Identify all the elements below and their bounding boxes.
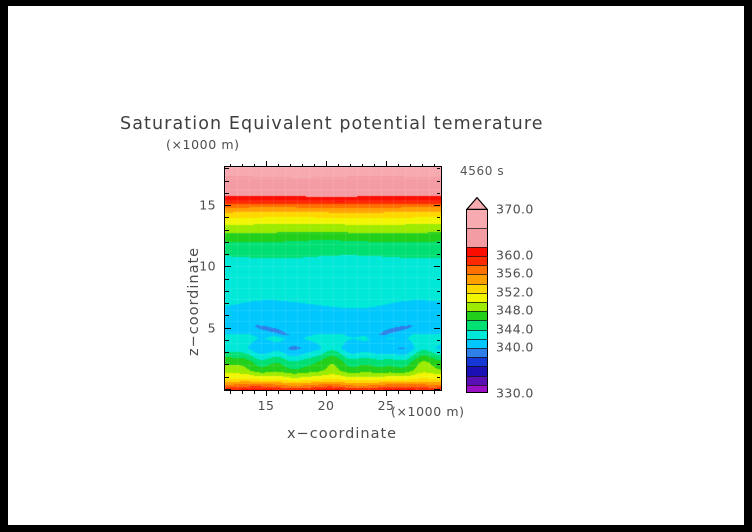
x-tick-top — [314, 164, 315, 168]
x-tick — [278, 390, 279, 394]
colorbar-segment — [467, 274, 487, 283]
y-tick — [225, 279, 229, 280]
y-tick-right — [437, 340, 441, 341]
colorbar-tick-label: 348.0 — [496, 303, 534, 318]
colorbar-segment — [467, 357, 487, 366]
colorbar — [466, 197, 488, 393]
x-tick-top — [254, 164, 255, 168]
y-tick-right — [437, 279, 441, 280]
x-tick — [230, 390, 231, 394]
colorbar-divider — [467, 311, 487, 312]
x-tick — [374, 390, 375, 394]
x-tick — [410, 390, 411, 394]
y-tick-right — [437, 303, 441, 304]
colorbar-divider — [467, 256, 487, 257]
x-tick-top — [338, 164, 339, 168]
x-tick-top — [278, 164, 279, 168]
colorbar-segment — [467, 376, 487, 385]
y-tick-right — [437, 193, 441, 194]
x-tick — [254, 390, 255, 394]
y-tick-right — [437, 217, 441, 218]
colorbar-divider — [467, 247, 487, 248]
y-tick-right — [437, 242, 441, 243]
x-tick-top — [266, 161, 267, 167]
y-tick — [225, 254, 229, 255]
colorbar-segment — [467, 330, 487, 339]
y-tick-right — [437, 315, 441, 316]
figure-canvas: Saturation Equivalent potential temeratu… — [8, 6, 744, 525]
x-tick — [302, 390, 303, 394]
y-tick-right — [437, 168, 441, 169]
x-tick — [422, 390, 423, 394]
y-tick-right — [437, 377, 441, 378]
y-tick-label: 15 — [190, 198, 216, 213]
x-tick-label: 20 — [318, 398, 335, 413]
colorbar-segment — [467, 265, 487, 274]
y-tick — [225, 230, 229, 231]
colorbar-divider — [467, 228, 487, 229]
x-tick — [314, 390, 315, 394]
x-tick — [242, 390, 243, 394]
colorbar-gradient — [466, 209, 488, 393]
x-tick-label: 15 — [258, 398, 275, 413]
colorbar-divider — [467, 284, 487, 285]
x-tick — [386, 390, 387, 396]
x-tick-top — [398, 164, 399, 168]
y-tick — [225, 291, 229, 292]
colorbar-tick-label: 370.0 — [496, 202, 534, 217]
y-tick — [225, 193, 229, 194]
x-tick-top — [290, 164, 291, 168]
y-tick — [225, 377, 229, 378]
y-tick-right — [434, 205, 440, 206]
x-tick-top — [422, 164, 423, 168]
x-tick — [362, 390, 363, 394]
y-axis-unit-label: (×1000 m) — [166, 137, 240, 152]
contour-field — [225, 167, 441, 390]
y-tick-right — [437, 230, 441, 231]
y-tick — [225, 266, 231, 267]
y-tick-right — [437, 352, 441, 353]
x-tick-top — [242, 164, 243, 168]
y-tick-right — [437, 291, 441, 292]
colorbar-divider — [467, 385, 487, 386]
colorbar-divider — [467, 357, 487, 358]
x-axis-unit-label: (×1000 m) — [391, 404, 465, 419]
figure-page: Saturation Equivalent potential temeratu… — [0, 0, 752, 532]
colorbar-tick-label: 330.0 — [496, 386, 534, 401]
x-tick-top — [350, 164, 351, 168]
x-tick — [398, 390, 399, 394]
colorbar-tick-label: 344.0 — [496, 321, 534, 336]
y-axis-title: z−coordinate — [186, 247, 202, 356]
y-tick-right — [434, 328, 440, 329]
colorbar-segment — [467, 385, 487, 393]
colorbar-divider — [467, 339, 487, 340]
y-tick — [225, 340, 229, 341]
x-tick — [350, 390, 351, 394]
colorbar-tick-label: 352.0 — [496, 284, 534, 299]
x-tick — [326, 390, 327, 396]
colorbar-segment — [467, 302, 487, 311]
y-tick — [225, 242, 229, 243]
colorbar-segment — [467, 311, 487, 320]
x-tick — [434, 390, 435, 394]
colorbar-divider — [467, 366, 487, 367]
colorbar-divider — [467, 265, 487, 266]
colorbar-segment — [467, 348, 487, 357]
colorbar-divider — [467, 302, 487, 303]
y-tick — [225, 389, 231, 390]
colorbar-tick-label: 356.0 — [496, 266, 534, 281]
page-title: Saturation Equivalent potential temeratu… — [120, 114, 544, 134]
y-tick — [225, 303, 229, 304]
x-tick-top — [374, 164, 375, 168]
x-tick-top — [410, 164, 411, 168]
colorbar-tick-label: 360.0 — [496, 248, 534, 263]
colorbar-segment — [467, 228, 487, 246]
colorbar-segment — [467, 339, 487, 348]
colorbar-segment — [467, 256, 487, 265]
colorbar-segment — [467, 284, 487, 293]
colorbar-divider — [467, 274, 487, 275]
colorbar-segment — [467, 293, 487, 302]
x-tick — [266, 390, 267, 396]
y-tick — [225, 205, 231, 206]
colorbar-divider — [467, 320, 487, 321]
y-tick — [225, 352, 229, 353]
x-tick-top — [302, 164, 303, 168]
y-tick-right — [437, 181, 441, 182]
x-tick — [338, 390, 339, 394]
y-tick — [225, 364, 229, 365]
y-tick — [225, 315, 229, 316]
x-tick — [290, 390, 291, 394]
colorbar-segment — [467, 320, 487, 329]
colorbar-segment — [467, 210, 487, 228]
time-annotation: 4560 s — [460, 164, 504, 178]
y-tick — [225, 181, 229, 182]
x-tick-top — [434, 164, 435, 168]
y-tick — [225, 217, 229, 218]
y-tick-right — [434, 266, 440, 267]
x-tick-top — [386, 161, 387, 167]
y-tick-right — [434, 389, 440, 390]
colorbar-segment — [467, 247, 487, 256]
colorbar-divider — [467, 376, 487, 377]
y-tick-right — [437, 364, 441, 365]
y-tick — [225, 328, 231, 329]
colorbar-divider — [467, 293, 487, 294]
y-tick — [225, 168, 229, 169]
contour-plot — [224, 166, 442, 391]
y-tick-right — [437, 254, 441, 255]
x-tick-top — [230, 164, 231, 168]
colorbar-divider — [467, 348, 487, 349]
x-tick-top — [326, 161, 327, 167]
x-axis-title: x−coordinate — [287, 426, 397, 442]
x-tick-top — [362, 164, 363, 168]
colorbar-segment — [467, 366, 487, 375]
colorbar-tick-label: 340.0 — [496, 340, 534, 355]
colorbar-divider — [467, 330, 487, 331]
